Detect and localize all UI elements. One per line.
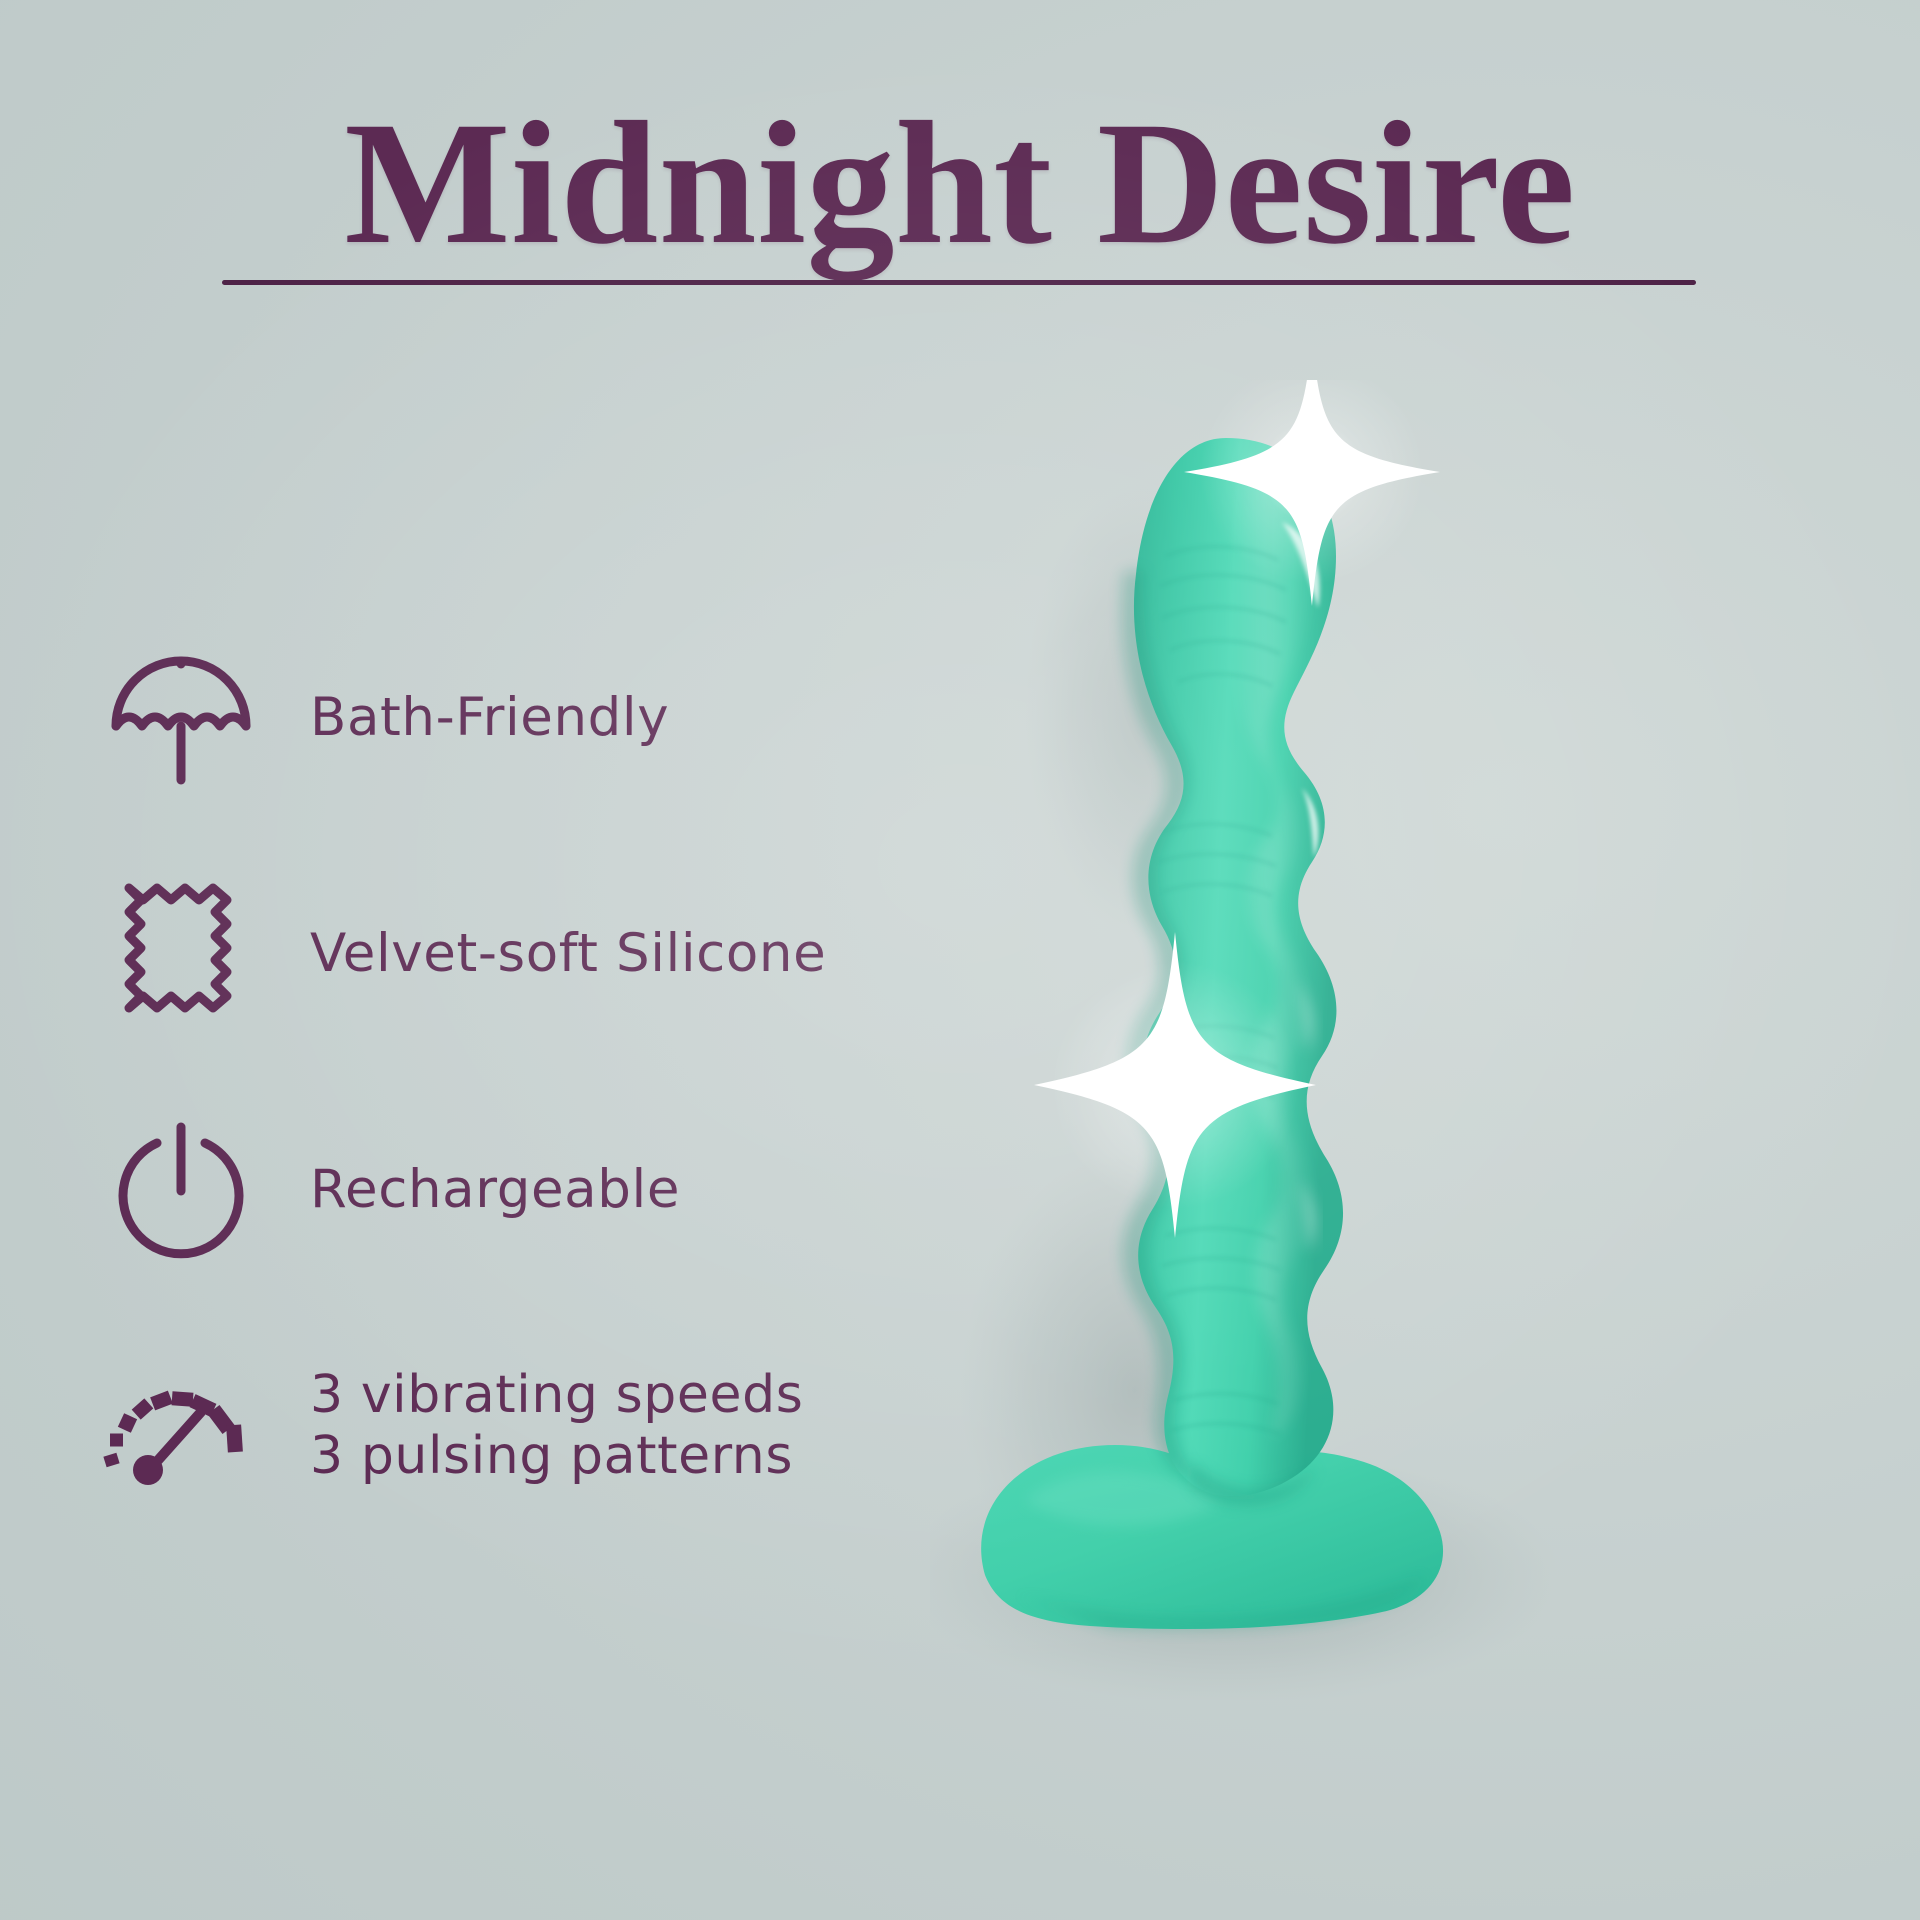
umbrella-icon <box>96 643 266 793</box>
feature-item-bath-friendly: Bath-Friendly <box>96 600 996 836</box>
title-divider <box>222 280 1696 285</box>
feature-label-bath-friendly: Bath-Friendly <box>266 687 669 750</box>
fabric-swatch-icon <box>96 879 266 1029</box>
speedometer-icon <box>96 1351 266 1501</box>
power-icon <box>96 1115 266 1265</box>
page-title: Midnight Desire <box>0 96 1920 272</box>
feature-label-rechargeable: Rechargeable <box>266 1159 680 1222</box>
product-image <box>930 380 1920 1700</box>
feature-item-speeds-patterns: 3 vibrating speeds 3 pulsing patterns <box>96 1308 996 1544</box>
header: Midnight Desire <box>0 96 1920 272</box>
product-feature-card: Midnight Desire Bath-Friendly <box>0 0 1920 1920</box>
feature-label-velvet-soft-silicone: Velvet-soft Silicone <box>266 923 826 986</box>
feature-item-velvet-soft-silicone: Velvet-soft Silicone <box>96 836 996 1072</box>
feature-list: Bath-Friendly Velvet-soft Silicone <box>96 600 996 1544</box>
product-illustration <box>930 380 1920 1700</box>
feature-item-rechargeable: Rechargeable <box>96 1072 996 1308</box>
feature-label-speeds-patterns: 3 vibrating speeds 3 pulsing patterns <box>266 1365 803 1488</box>
